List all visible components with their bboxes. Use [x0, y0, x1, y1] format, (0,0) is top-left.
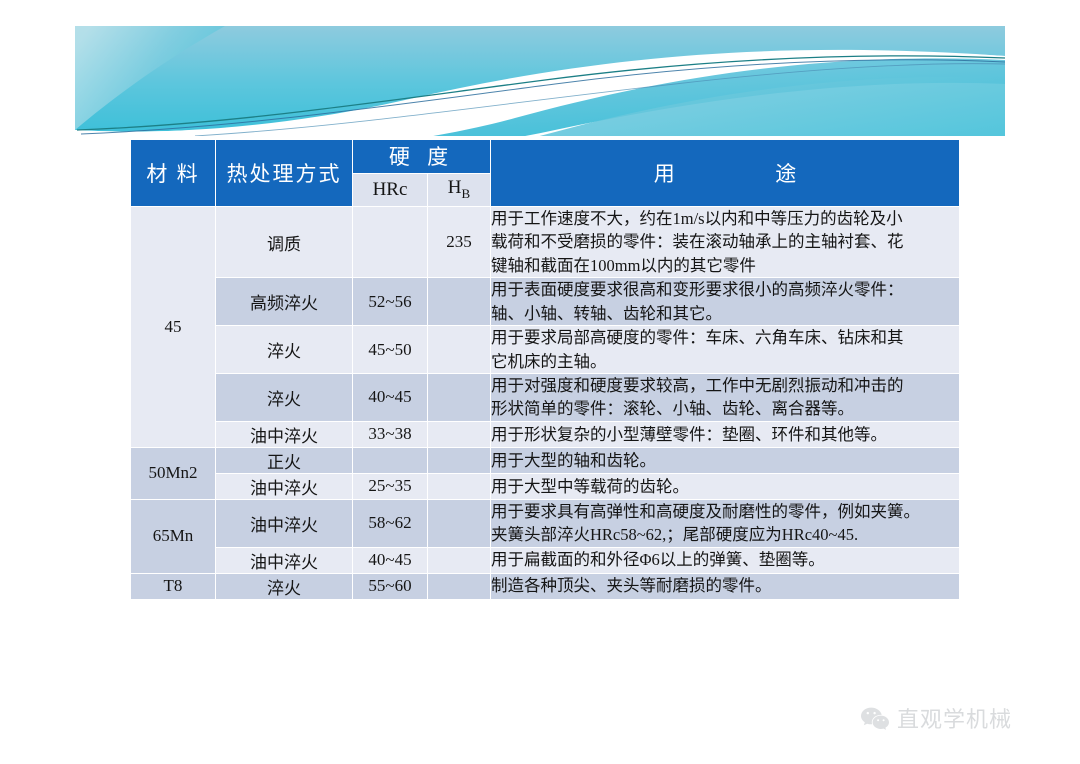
cell-hrc: 40~45: [353, 548, 427, 573]
cell-use-line: 形状简单的零件：滚轮、小轴、齿轮、离合器等。: [491, 397, 959, 420]
cell-hb: [428, 474, 490, 499]
col-header-use-left: 用: [654, 162, 675, 186]
cell-hrc: 58~62: [353, 500, 427, 547]
table-row: 油中淬火40~45用于扁截面的和外径Φ6以上的弹簧、垫圈等。: [131, 548, 959, 573]
cell-use-line: 用于要求具有高弹性和高硬度及耐磨性的零件，例如夹簧。: [491, 500, 959, 523]
cell-use: 用于形状复杂的小型薄壁零件：垫圈、环件和其他等。: [491, 422, 959, 447]
cell-use-line: 用于大型中等载荷的齿轮。: [491, 475, 959, 498]
header-wave-banner: [75, 26, 1005, 136]
table-row: T8淬火55~60制造各种顶尖、夹头等耐磨损的零件。: [131, 574, 959, 599]
cell-treatment: 油中淬火: [216, 474, 352, 499]
table-row: 65Mn油中淬火58~62用于要求具有高弹性和高硬度及耐磨性的零件，例如夹簧。夹…: [131, 500, 959, 547]
table-row: 45调质235用于工作速度不大，约在1m/s以内和中等压力的齿轮及小载荷和不受磨…: [131, 207, 959, 277]
table-row: 50Mn2正火用于大型的轴和齿轮。: [131, 448, 959, 473]
cell-treatment: 正火: [216, 448, 352, 473]
cell-treatment: 调质: [216, 207, 352, 277]
cell-hb: 235: [428, 207, 490, 277]
cell-hb: [428, 278, 490, 325]
cell-material: 50Mn2: [131, 448, 215, 499]
cell-treatment: 油中淬火: [216, 422, 352, 447]
material-heat-treatment-table: 材 料 热处理方式 硬 度 用 途 HRc HB 45调质235用于工作速度不大…: [130, 139, 960, 600]
col-header-use-right: 途: [775, 162, 796, 186]
col-header-hb: HB: [428, 174, 490, 207]
cell-hrc: [353, 207, 427, 277]
cell-hrc: 52~56: [353, 278, 427, 325]
cell-hb: [428, 374, 490, 421]
cell-treatment: 淬火: [216, 574, 352, 599]
wechat-icon: [860, 706, 890, 730]
cell-use-line: 用于工作速度不大，约在1m/s以内和中等压力的齿轮及小: [491, 207, 959, 230]
cell-treatment: 油中淬火: [216, 500, 352, 547]
cell-use: 用于对强度和硬度要求较高，工作中无剧烈振动和冲击的形状简单的零件：滚轮、小轴、齿…: [491, 374, 959, 421]
cell-use-line: 用于对强度和硬度要求较高，工作中无剧烈振动和冲击的: [491, 374, 959, 397]
cell-use: 用于大型中等载荷的齿轮。: [491, 474, 959, 499]
cell-use-line: 制造各种顶尖、夹头等耐磨损的零件。: [491, 574, 959, 597]
cell-use-line: 它机床的主轴。: [491, 350, 959, 373]
col-header-hardness: 硬 度: [353, 140, 490, 173]
cell-material: T8: [131, 574, 215, 599]
cell-use-line: 用于形状复杂的小型薄壁零件：垫圈、环件和其他等。: [491, 423, 959, 446]
col-header-material: 材 料: [131, 140, 215, 206]
cell-hb: [428, 500, 490, 547]
cell-hrc: [353, 448, 427, 473]
cell-material: 45: [131, 207, 215, 447]
table-row: 油中淬火25~35用于大型中等载荷的齿轮。: [131, 474, 959, 499]
cell-use-line: 用于表面硬度要求很高和变形要求很小的高频淬火零件：: [491, 278, 959, 301]
spec-table: 材 料 热处理方式 硬 度 用 途 HRc HB 45调质235用于工作速度不大…: [130, 139, 960, 600]
cell-hb: [428, 448, 490, 473]
col-header-hb-subscript: B: [462, 186, 471, 201]
table-row: 油中淬火33~38用于形状复杂的小型薄壁零件：垫圈、环件和其他等。: [131, 422, 959, 447]
cell-use-line: 用于扁截面的和外径Φ6以上的弹簧、垫圈等。: [491, 548, 959, 571]
cell-use: 用于大型的轴和齿轮。: [491, 448, 959, 473]
cell-treatment: 高频淬火: [216, 278, 352, 325]
cell-hb: [428, 326, 490, 373]
table-body: 45调质235用于工作速度不大，约在1m/s以内和中等压力的齿轮及小载荷和不受磨…: [131, 207, 959, 599]
col-header-hrc: HRc: [353, 174, 427, 207]
cell-hrc: 33~38: [353, 422, 427, 447]
cell-treatment: 油中淬火: [216, 548, 352, 573]
col-header-hb-prefix: H: [448, 177, 462, 198]
cell-use: 用于扁截面的和外径Φ6以上的弹簧、垫圈等。: [491, 548, 959, 573]
cell-hrc: 55~60: [353, 574, 427, 599]
cell-use-line: 夹簧头部淬火HRc58~62,；尾部硬度应为HRc40~45.: [491, 523, 959, 546]
cell-hb: [428, 574, 490, 599]
watermark-text: 直观学机械: [897, 702, 1012, 734]
cell-hrc: 25~35: [353, 474, 427, 499]
cell-hrc: 40~45: [353, 374, 427, 421]
table-row: 高频淬火52~56用于表面硬度要求很高和变形要求很小的高频淬火零件：轴、小轴、转…: [131, 278, 959, 325]
cell-hb: [428, 548, 490, 573]
cell-use-line: 键轴和截面在100mm以内的其它零件: [491, 254, 959, 277]
cell-use: 用于要求局部高硬度的零件：车床、六角车床、钻床和其它机床的主轴。: [491, 326, 959, 373]
cell-use-line: 轴、小轴、转轴、齿轮和其它。: [491, 302, 959, 325]
cell-hrc: 45~50: [353, 326, 427, 373]
cell-use-line: 用于大型的轴和齿轮。: [491, 449, 959, 472]
cell-treatment: 淬火: [216, 374, 352, 421]
cell-material: 65Mn: [131, 500, 215, 573]
cell-hb: [428, 422, 490, 447]
table-header: 材 料 热处理方式 硬 度 用 途 HRc HB: [131, 140, 959, 206]
cell-use-line: 用于要求局部高硬度的零件：车床、六角车床、钻床和其: [491, 326, 959, 349]
cell-use: 用于工作速度不大，约在1m/s以内和中等压力的齿轮及小载荷和不受磨损的零件：装在…: [491, 207, 959, 277]
col-header-use: 用 途: [491, 140, 959, 206]
cell-use: 制造各种顶尖、夹头等耐磨损的零件。: [491, 574, 959, 599]
table-row: 淬火40~45用于对强度和硬度要求较高，工作中无剧烈振动和冲击的形状简单的零件：…: [131, 374, 959, 421]
table-row: 淬火45~50用于要求局部高硬度的零件：车床、六角车床、钻床和其它机床的主轴。: [131, 326, 959, 373]
cell-use: 用于表面硬度要求很高和变形要求很小的高频淬火零件：轴、小轴、转轴、齿轮和其它。: [491, 278, 959, 325]
watermark: 直观学机械: [860, 702, 1012, 734]
cell-treatment: 淬火: [216, 326, 352, 373]
cell-use: 用于要求具有高弹性和高硬度及耐磨性的零件，例如夹簧。夹簧头部淬火HRc58~62…: [491, 500, 959, 547]
col-header-treatment: 热处理方式: [216, 140, 352, 206]
cell-use-line: 载荷和不受磨损的零件：装在滚动轴承上的主轴衬套、花: [491, 230, 959, 253]
